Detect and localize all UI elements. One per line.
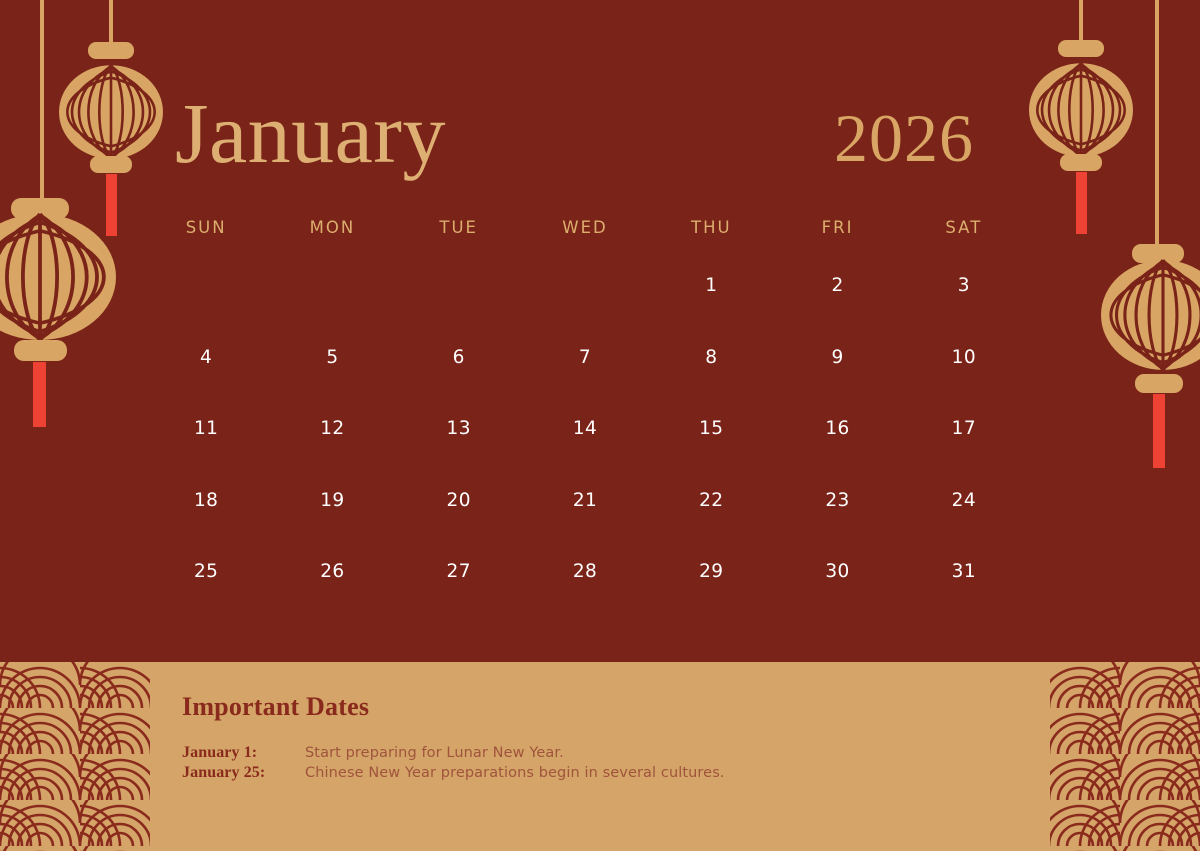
weekday-header-row: SUN MON TUE WED THU FRI SAT bbox=[143, 218, 1027, 237]
day-number: 8 bbox=[705, 347, 717, 368]
day-number: 26 bbox=[320, 561, 344, 582]
day-cell[interactable]: 9 bbox=[774, 347, 900, 419]
day-cell[interactable]: 26 bbox=[269, 561, 395, 633]
day-cell[interactable]: 23 bbox=[774, 490, 900, 562]
day-number: 29 bbox=[699, 561, 723, 582]
day-cell[interactable]: 22 bbox=[648, 490, 774, 562]
day-number: 2 bbox=[831, 275, 843, 296]
day-cell[interactable]: 6 bbox=[396, 347, 522, 419]
day-number: 19 bbox=[320, 490, 344, 511]
day-number: 12 bbox=[320, 418, 344, 439]
day-cell[interactable]: 2 bbox=[774, 275, 900, 347]
day-cell[interactable]: 13 bbox=[396, 418, 522, 490]
day-cell[interactable]: 11 bbox=[143, 418, 269, 490]
day-cell[interactable]: 24 bbox=[901, 490, 1027, 562]
day-number: 25 bbox=[194, 561, 218, 582]
day-number: 28 bbox=[573, 561, 597, 582]
day-number: 5 bbox=[326, 347, 338, 368]
day-number: 6 bbox=[453, 347, 465, 368]
day-cell[interactable] bbox=[522, 275, 648, 347]
day-number: 17 bbox=[952, 418, 976, 439]
calendar-grid: SUN MON TUE WED THU FRI SAT 1 2 3 4 5 bbox=[143, 218, 1027, 633]
day-cell[interactable]: 8 bbox=[648, 347, 774, 419]
day-number: 13 bbox=[447, 418, 471, 439]
event-description: Chinese New Year preparations begin in s… bbox=[305, 765, 725, 781]
day-number: 10 bbox=[952, 347, 976, 368]
day-number: 1 bbox=[705, 275, 717, 296]
calendar-top-area: January 2026 SUN MON TUE WED THU FRI SAT… bbox=[0, 0, 1200, 662]
day-number: 3 bbox=[958, 275, 970, 296]
day-cell[interactable]: 10 bbox=[901, 347, 1027, 419]
day-number: 31 bbox=[952, 561, 976, 582]
day-cell[interactable]: 21 bbox=[522, 490, 648, 562]
day-cell[interactable]: 29 bbox=[648, 561, 774, 633]
day-cell[interactable]: 31 bbox=[901, 561, 1027, 633]
weekday-sun: SUN bbox=[143, 218, 269, 237]
day-number: 4 bbox=[200, 347, 212, 368]
weekday-fri: FRI bbox=[774, 218, 900, 237]
calendar-title-row: January 2026 bbox=[175, 90, 980, 190]
day-cell[interactable] bbox=[269, 275, 395, 347]
day-number: 15 bbox=[699, 418, 723, 439]
calendar-day-cells: 1 2 3 4 5 6 7 8 9 10 11 12 13 14 15 16 1… bbox=[143, 275, 1027, 633]
weekday-tue: TUE bbox=[396, 218, 522, 237]
day-cell[interactable]: 3 bbox=[901, 275, 1027, 347]
day-number: 9 bbox=[831, 347, 843, 368]
day-number: 20 bbox=[447, 490, 471, 511]
day-cell[interactable]: 5 bbox=[269, 347, 395, 419]
month-title: January bbox=[175, 90, 446, 176]
event-row: January 1: Start preparing for Lunar New… bbox=[182, 744, 1002, 762]
day-cell[interactable]: 14 bbox=[522, 418, 648, 490]
day-cell[interactable]: 17 bbox=[901, 418, 1027, 490]
day-cell[interactable]: 12 bbox=[269, 418, 395, 490]
weekday-mon: MON bbox=[269, 218, 395, 237]
day-number: 18 bbox=[194, 490, 218, 511]
important-dates-band: Important Dates January 1: Start prepari… bbox=[0, 662, 1200, 851]
day-cell[interactable]: 28 bbox=[522, 561, 648, 633]
day-cell[interactable]: 15 bbox=[648, 418, 774, 490]
year-title: 2026 bbox=[834, 104, 974, 172]
day-number: 7 bbox=[579, 347, 591, 368]
day-number: 30 bbox=[825, 561, 849, 582]
event-row: January 25: Chinese New Year preparation… bbox=[182, 764, 1002, 782]
weekday-wed: WED bbox=[522, 218, 648, 237]
important-dates-content: Important Dates January 1: Start prepari… bbox=[182, 692, 1002, 784]
day-cell[interactable]: 7 bbox=[522, 347, 648, 419]
day-cell[interactable]: 20 bbox=[396, 490, 522, 562]
important-dates-heading: Important Dates bbox=[182, 692, 1002, 722]
day-cell[interactable]: 25 bbox=[143, 561, 269, 633]
day-cell[interactable] bbox=[143, 275, 269, 347]
day-number: 21 bbox=[573, 490, 597, 511]
day-cell[interactable]: 4 bbox=[143, 347, 269, 419]
day-cell[interactable]: 19 bbox=[269, 490, 395, 562]
calendar-page: January 2026 SUN MON TUE WED THU FRI SAT… bbox=[0, 0, 1200, 851]
weekday-sat: SAT bbox=[901, 218, 1027, 237]
day-number: 24 bbox=[952, 490, 976, 511]
day-cell[interactable]: 16 bbox=[774, 418, 900, 490]
day-cell[interactable]: 1 bbox=[648, 275, 774, 347]
day-number: 16 bbox=[825, 418, 849, 439]
day-number: 11 bbox=[194, 418, 218, 439]
day-cell[interactable]: 18 bbox=[143, 490, 269, 562]
day-number: 27 bbox=[447, 561, 471, 582]
day-cell[interactable]: 30 bbox=[774, 561, 900, 633]
day-cell[interactable] bbox=[396, 275, 522, 347]
event-description: Start preparing for Lunar New Year. bbox=[305, 745, 564, 761]
weekday-thu: THU bbox=[648, 218, 774, 237]
event-date: January 1: bbox=[182, 744, 305, 762]
day-number: 22 bbox=[699, 490, 723, 511]
day-cell[interactable]: 27 bbox=[396, 561, 522, 633]
day-number: 23 bbox=[825, 490, 849, 511]
day-number: 14 bbox=[573, 418, 597, 439]
event-date: January 25: bbox=[182, 764, 305, 782]
